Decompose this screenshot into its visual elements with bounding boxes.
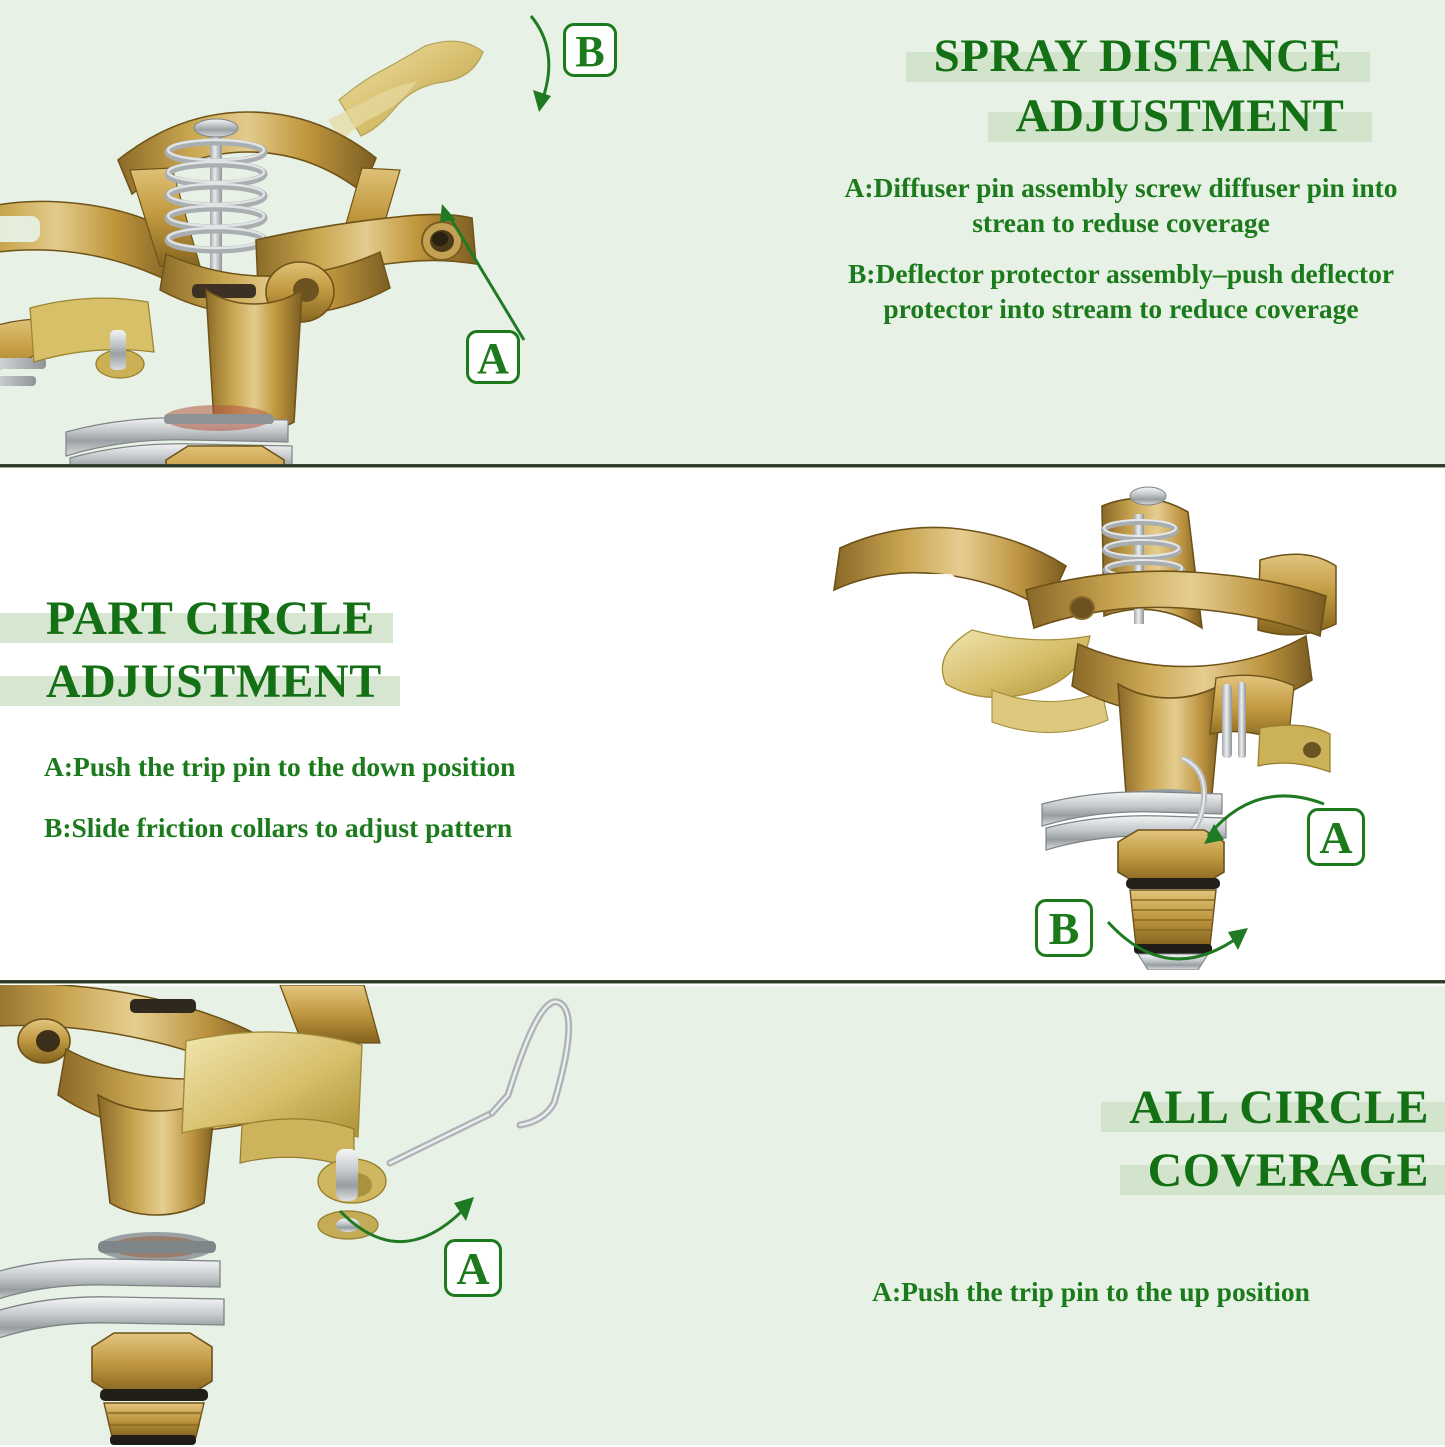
- part-body-block: A:Push the trip pin to the down position…: [44, 749, 644, 845]
- panel-spray-distance: A B SPRAY DISTANCE ADJUSTMENT A:Diffuser…: [0, 0, 1445, 468]
- part-body-a: A:Push the trip pin to the down position: [44, 749, 644, 784]
- callout-badge-part-a[interactable]: A: [1307, 808, 1365, 866]
- threaded-inlet: [1130, 890, 1216, 946]
- friction-collars: [0, 1259, 224, 1341]
- spray-heading-line-2: ADJUSTMENT: [933, 86, 1427, 146]
- spray-body-b: B:Deflector protector assembly–push defl…: [815, 256, 1427, 326]
- spray-body-block: A:Diffuser pin assembly screw diffuser p…: [815, 170, 1427, 326]
- sprinkler-image-all: [0, 985, 600, 1447]
- callout-badge-part-b[interactable]: B: [1035, 899, 1093, 957]
- spray-text-block: SPRAY DISTANCE ADJUSTMENT A:Diffuser pin…: [815, 26, 1427, 342]
- callout-badge-all-a[interactable]: A: [444, 1239, 502, 1297]
- infographic-sheet: A B SPRAY DISTANCE ADJUSTMENT A:Diffuser…: [0, 0, 1445, 1445]
- inlet-screen: [1138, 954, 1208, 970]
- sprinkler-image-part: [830, 478, 1370, 970]
- hex-nut: [1118, 830, 1224, 884]
- spray-body-a: A:Diffuser pin assembly screw diffuser p…: [815, 170, 1427, 240]
- all-body-a: A:Push the trip pin to the up position: [751, 1274, 1431, 1309]
- trip-pin-wire: [390, 1002, 569, 1163]
- threaded-inlet: [104, 1403, 204, 1437]
- part-text-block: PART CIRCLE ADJUSTMENT A:Push the trip p…: [44, 587, 644, 871]
- panel-divider-1: [0, 464, 1445, 468]
- all-text-block: ALL CIRCLE COVERAGE A:Push the trip pin …: [751, 1076, 1431, 1309]
- all-body-block: A:Push the trip pin to the up position: [751, 1274, 1431, 1309]
- spray-heading-line-1: SPRAY DISTANCE: [849, 26, 1427, 86]
- part-body-b: B:Slide friction collars to adjust patte…: [44, 810, 644, 845]
- trip-mechanism: [30, 298, 154, 362]
- callout-badge-b[interactable]: B: [563, 23, 617, 77]
- hex-nut: [92, 1333, 212, 1395]
- all-heading-line-2: COVERAGE: [751, 1139, 1431, 1202]
- part-heading-line-1: PART CIRCLE: [44, 587, 644, 650]
- all-heading-line-1: ALL CIRCLE: [751, 1076, 1431, 1139]
- panel-divider-2: [0, 980, 1445, 984]
- callout-badge-a[interactable]: A: [466, 330, 520, 384]
- deflector-spoon: [942, 630, 1090, 697]
- part-heading-line-2: ADJUSTMENT: [44, 650, 644, 713]
- sprinkler-image-spray: [0, 40, 630, 468]
